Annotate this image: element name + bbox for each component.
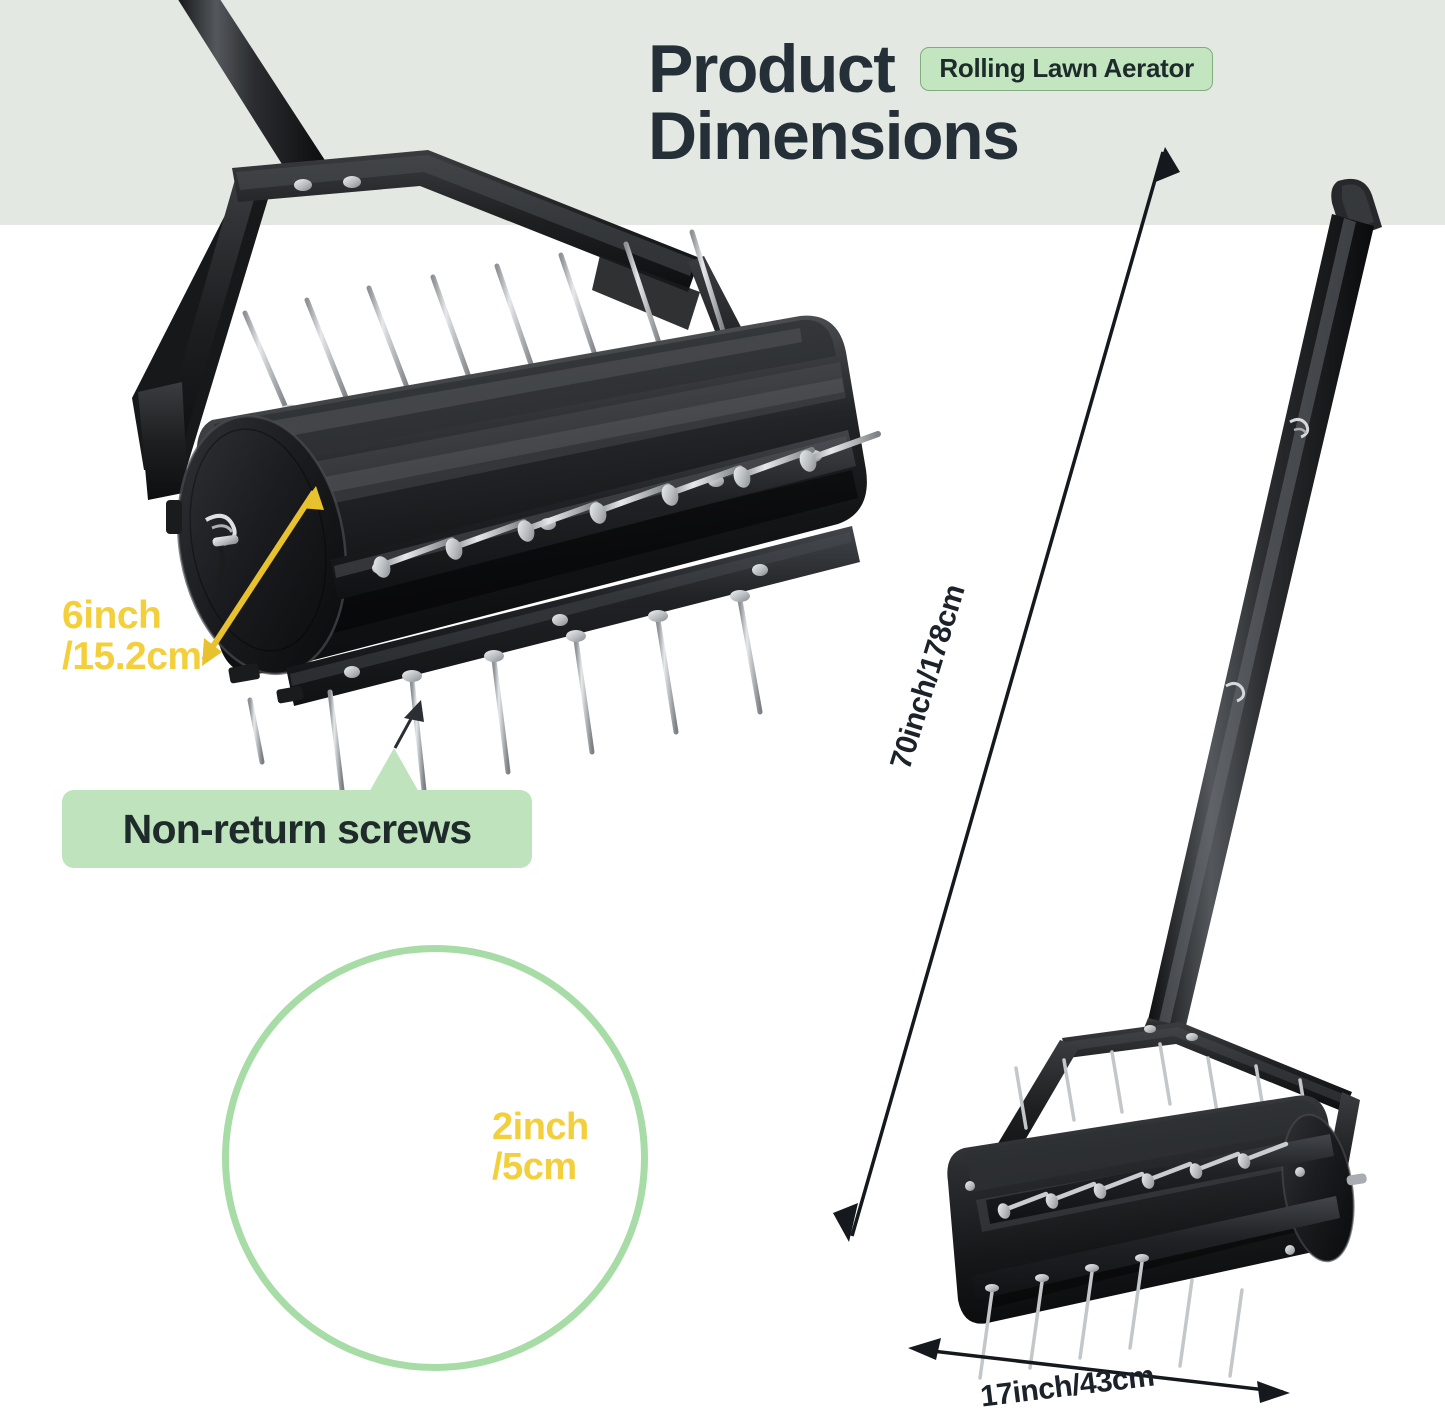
drum-diameter-label: 6inch /15.2cm xyxy=(62,596,202,678)
page-title-line-2: Dimensions xyxy=(648,103,1408,170)
callout-pointer-tip xyxy=(368,748,420,794)
retaining-pin xyxy=(206,516,239,582)
width-arrow-head-right xyxy=(1257,1381,1290,1403)
total-height-label: 70inch/178cm xyxy=(884,581,972,773)
page-title-block: Product Rolling Lawn Aerator Dimensions xyxy=(648,36,1408,169)
infographic-canvas: Product Rolling Lawn Aerator Dimensions … xyxy=(0,0,1445,1424)
diameter-arrow xyxy=(204,492,314,660)
spike-length-label: 2inch /5cm xyxy=(492,1108,589,1188)
drum-diameter-label-line2: /15.2cm xyxy=(62,637,202,678)
height-dimension-arrow xyxy=(852,152,1163,1236)
drum-diameter-label-line1: 6inch xyxy=(62,596,202,637)
non-return-screws-label: Non-return screws xyxy=(123,806,472,853)
width-arrow-head-left xyxy=(908,1338,941,1360)
working-width-label: 17inch/43cm xyxy=(979,1359,1156,1414)
spike-length-label-line1: 2inch xyxy=(492,1108,589,1148)
page-title-line-1: Product xyxy=(648,36,894,103)
product-name-badge: Rolling Lawn Aerator xyxy=(920,47,1213,91)
spike-length-label-line2: /5cm xyxy=(492,1148,589,1188)
full-product-photo xyxy=(947,179,1382,1378)
height-arrow-head-bottom xyxy=(833,1203,858,1242)
callout-pointer xyxy=(395,706,418,748)
non-return-screws-callout: Non-return screws xyxy=(62,790,532,868)
